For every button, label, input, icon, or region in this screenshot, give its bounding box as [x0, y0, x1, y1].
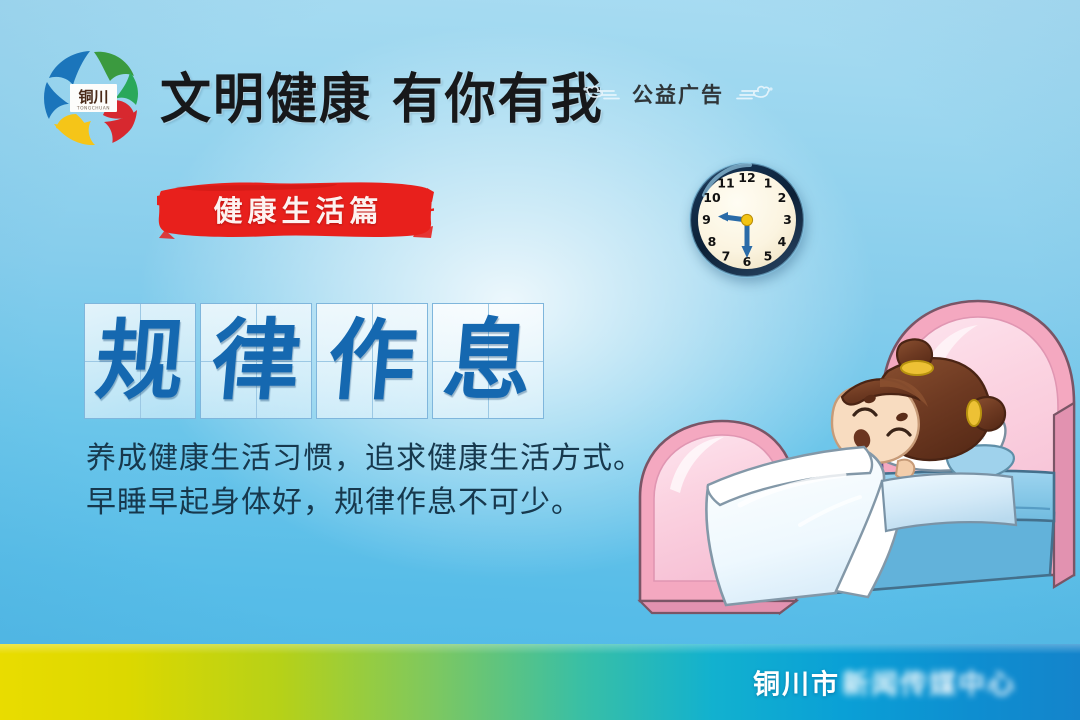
clock-num-10: 10	[703, 190, 721, 205]
clock-num-11: 11	[717, 176, 734, 191]
footer-credit: 铜川市 新闻传媒中心	[753, 663, 1016, 702]
clock-num-4: 4	[778, 234, 787, 249]
footer-credit-clear: 铜川市	[753, 663, 840, 702]
headline-char: 律	[208, 317, 304, 405]
headline-char: 息	[440, 317, 536, 405]
grid-cell: 作	[316, 303, 428, 419]
footer-sheen	[0, 644, 1080, 654]
headline-char: 作	[324, 317, 420, 405]
logo-center-text: 铜川	[78, 88, 108, 106]
grid-cell: 律	[200, 303, 312, 419]
logo-sub-text: TONGCHUAN	[76, 106, 110, 112]
body-line-1: 养成健康生活习惯，追求健康生活方式。	[86, 437, 644, 481]
cloud-swirl-icon-left	[580, 83, 622, 105]
body-copy: 养成健康生活习惯，追求健康生活方式。 早睡早起身体好，规律作息不可少。	[86, 437, 644, 526]
banner-label: 健康生活篇	[157, 178, 434, 240]
poster-header: 铜川 TONGCHUAN 文明健康 有你有我 公益广告	[0, 0, 1080, 150]
headline-char: 规	[92, 317, 188, 405]
poster-title: 文明健康 有你有我	[160, 55, 604, 133]
hair-tie-side	[967, 400, 981, 426]
footer-bar: 铜川市 新闻传媒中心	[0, 644, 1080, 720]
clock-num-2: 2	[778, 190, 787, 205]
clock-num-9: 9	[702, 212, 711, 227]
cloud-swirl-icon-right	[734, 83, 776, 105]
grid-cell: 息	[432, 303, 544, 419]
clock-num-8: 8	[708, 234, 717, 249]
girl-sleeping-in-bed-illustration	[630, 275, 1080, 635]
psa-label: 公益广告	[632, 79, 724, 109]
clock-num-1: 1	[764, 176, 773, 191]
clock-num-5: 5	[764, 249, 773, 264]
footer-credit-blurred: 新闻传媒中心	[842, 663, 1016, 702]
section-banner: 健康生活篇	[157, 178, 434, 240]
grid-cell: 规	[84, 303, 196, 419]
clock-num-3: 3	[783, 212, 792, 227]
tongchuan-city-logo: 铜川 TONGCHUAN	[42, 48, 144, 148]
clock-num-7: 7	[722, 249, 731, 264]
wall-clock: 12 1 2 3 4 5 6 7 8 9 10 11	[688, 161, 806, 279]
psa-label-group: 公益广告	[580, 79, 776, 109]
headline-character-grid: 规 律 作 息	[84, 303, 544, 419]
clock-num-12: 12	[738, 170, 755, 185]
hair-tie-top	[901, 361, 933, 375]
public-service-poster: 铜川 TONGCHUAN 文明健康 有你有我 公益广告	[0, 0, 1080, 720]
body-line-2: 早睡早起身体好，规律作息不可少。	[86, 481, 644, 525]
